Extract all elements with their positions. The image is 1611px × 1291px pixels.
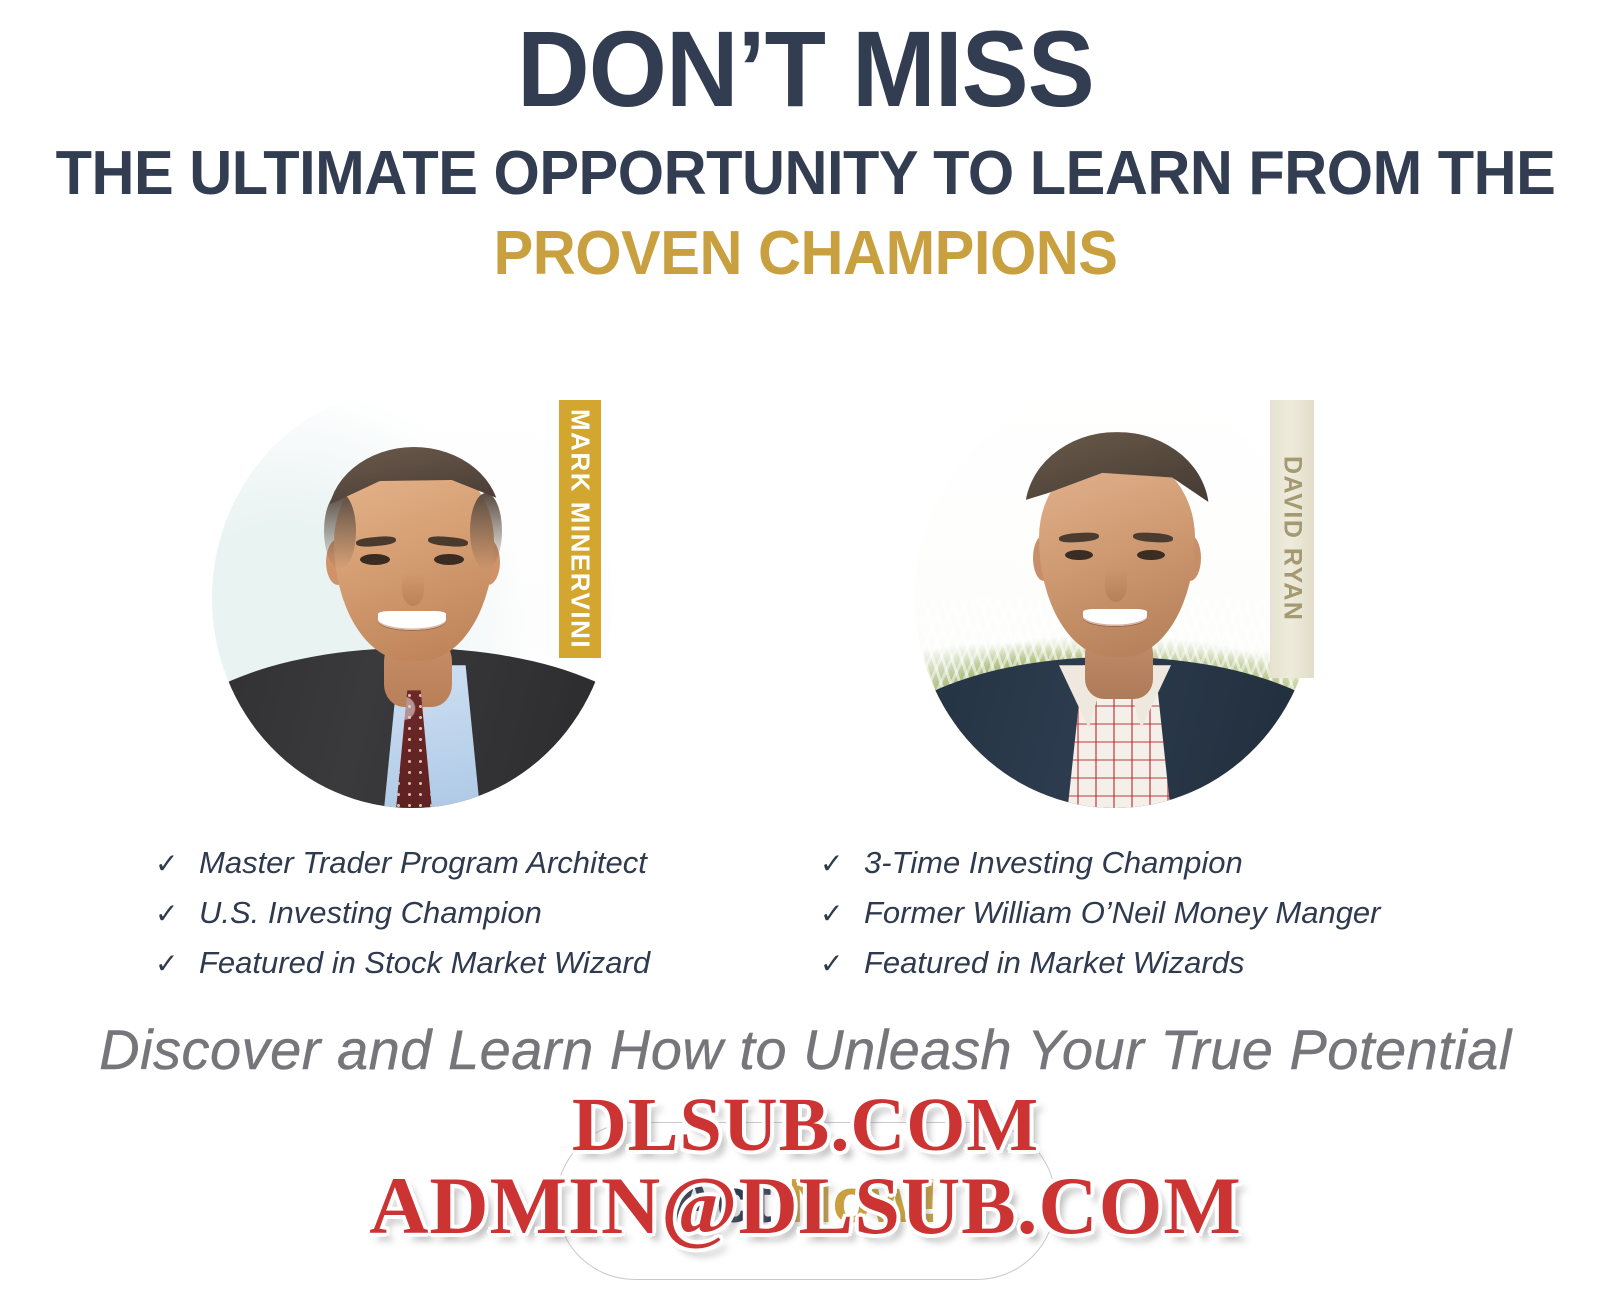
speaker-card-mark-minervini: MARK MINERVINI [0,380,805,830]
credential-list: ✓ 3-Time Investing Champion ✓ Former Wil… [820,838,1381,988]
list-item: ✓ Former William O’Neil Money Manger [820,888,1381,938]
temple-right-shape [470,493,502,569]
credential-label: U.S. Investing Champion [199,888,542,937]
eye-right-shape [434,554,464,565]
mouth-shape [378,611,446,630]
list-item: ✓ U.S. Investing Champion [155,888,650,938]
headline-primary: DON’T MISS [56,9,1554,129]
name-banner-mark-minervini: MARK MINERVINI [559,400,601,658]
mouth-shape [1083,609,1147,627]
check-icon: ✓ [820,939,864,988]
portrait-photo-mark-minervini [212,388,612,808]
eye-left-shape [360,554,390,565]
eye-right-shape [1137,550,1165,561]
credential-label: Former William O’Neil Money Manger [864,888,1381,937]
headline-accent: PROVEN CHAMPIONS [32,220,1579,288]
tagline: Discover and Learn How to Unleash Your T… [0,1018,1611,1082]
credential-label: Featured in Stock Market Wizard [199,938,650,987]
check-icon: ✓ [820,839,864,888]
portrait-photo-david-ryan [915,388,1315,808]
check-icon: ✓ [155,889,199,938]
credential-label: Master Trader Program Architect [199,838,647,887]
watermark-site: DLSUB.COM [0,1085,1611,1165]
speakers-row: MARK MINERVINI [0,380,1611,830]
check-icon: ✓ [155,939,199,988]
list-item: ✓ 3-Time Investing Champion [820,838,1381,888]
eye-left-shape [1065,550,1093,561]
check-icon: ✓ [155,839,199,888]
list-item: ✓ Master Trader Program Architect [155,838,650,888]
credential-list: ✓ Master Trader Program Architect ✓ U.S.… [155,838,650,988]
list-item: ✓ Featured in Market Wizards [820,938,1381,988]
check-icon: ✓ [820,889,864,938]
portrait-wrap-david-ryan: DAVID RYAN [915,388,1315,808]
headline-secondary: THE ULTIMATE OPPORTUNITY TO LEARN FROM T… [32,140,1579,208]
credential-label: Featured in Market Wizards [864,938,1244,987]
portrait-wrap-mark-minervini: MARK MINERVINI [212,388,612,808]
credential-label: 3-Time Investing Champion [864,838,1243,887]
speaker-card-david-ryan: DAVID RYAN [805,380,1610,830]
name-banner-david-ryan: DAVID RYAN [1270,400,1314,678]
watermark-email: ADMIN@DLSUB.COM [0,1163,1611,1249]
nose-shape [1105,569,1127,603]
headline-block: DON’T MISS THE ULTIMATE OPPORTUNITY TO L… [0,0,1611,288]
list-item: ✓ Featured in Stock Market Wizard [155,938,650,988]
